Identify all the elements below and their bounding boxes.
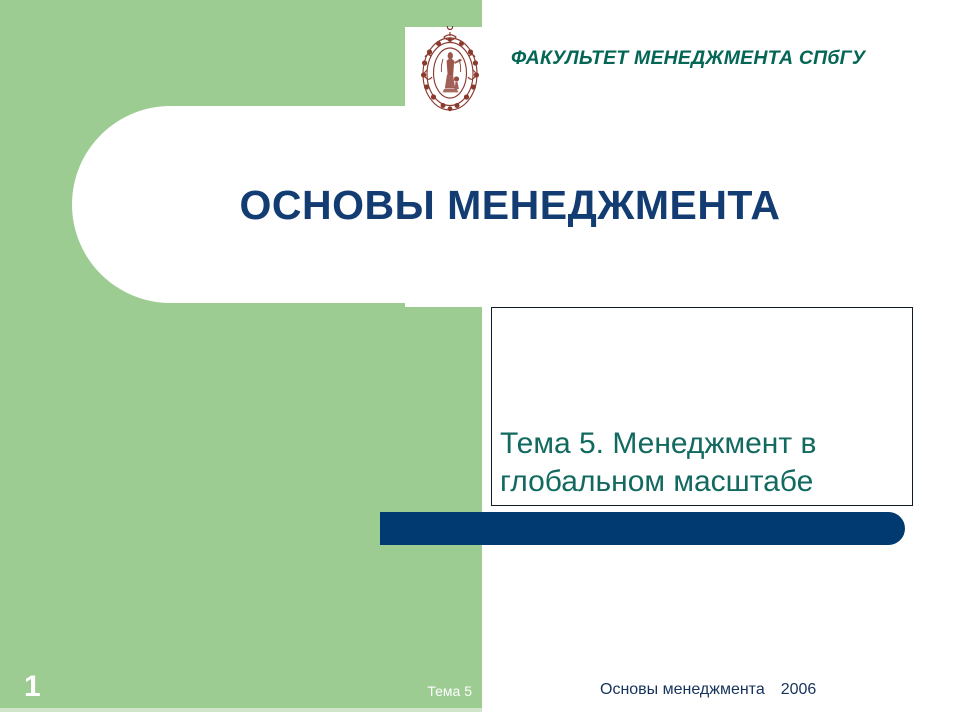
green-background-panel-lower	[405, 307, 482, 708]
footer-course-info: Основы менеджмента2006	[600, 681, 816, 699]
spbgu-crest-icon	[419, 26, 481, 116]
page-title: ОСНОВЫ МЕНЕДЖМЕНТА	[130, 182, 890, 229]
slide-page-number: 1	[24, 672, 41, 702]
faculty-header-title: ФАКУЛЬТЕТ МЕНЕДЖМЕНТА СПбГУ	[511, 47, 951, 70]
subtitle-textbox: Тема 5. Менеджмент в глобальном масштабе	[491, 307, 913, 506]
footer-year: 2006	[781, 681, 817, 698]
subtitle-text: Тема 5. Менеджмент в глобальном масштабе	[500, 425, 904, 501]
green-background-panel-top	[0, 0, 482, 27]
green-footer-strip	[0, 708, 482, 712]
footer-course-name: Основы менеджмента	[600, 681, 765, 698]
accent-bar	[380, 512, 905, 545]
footer-theme-label: Тема 5	[340, 683, 472, 699]
presentation-slide: ФАКУЛЬТЕТ МЕНЕДЖМЕНТА СПбГУ ОСНОВЫ МЕНЕД…	[0, 0, 960, 720]
